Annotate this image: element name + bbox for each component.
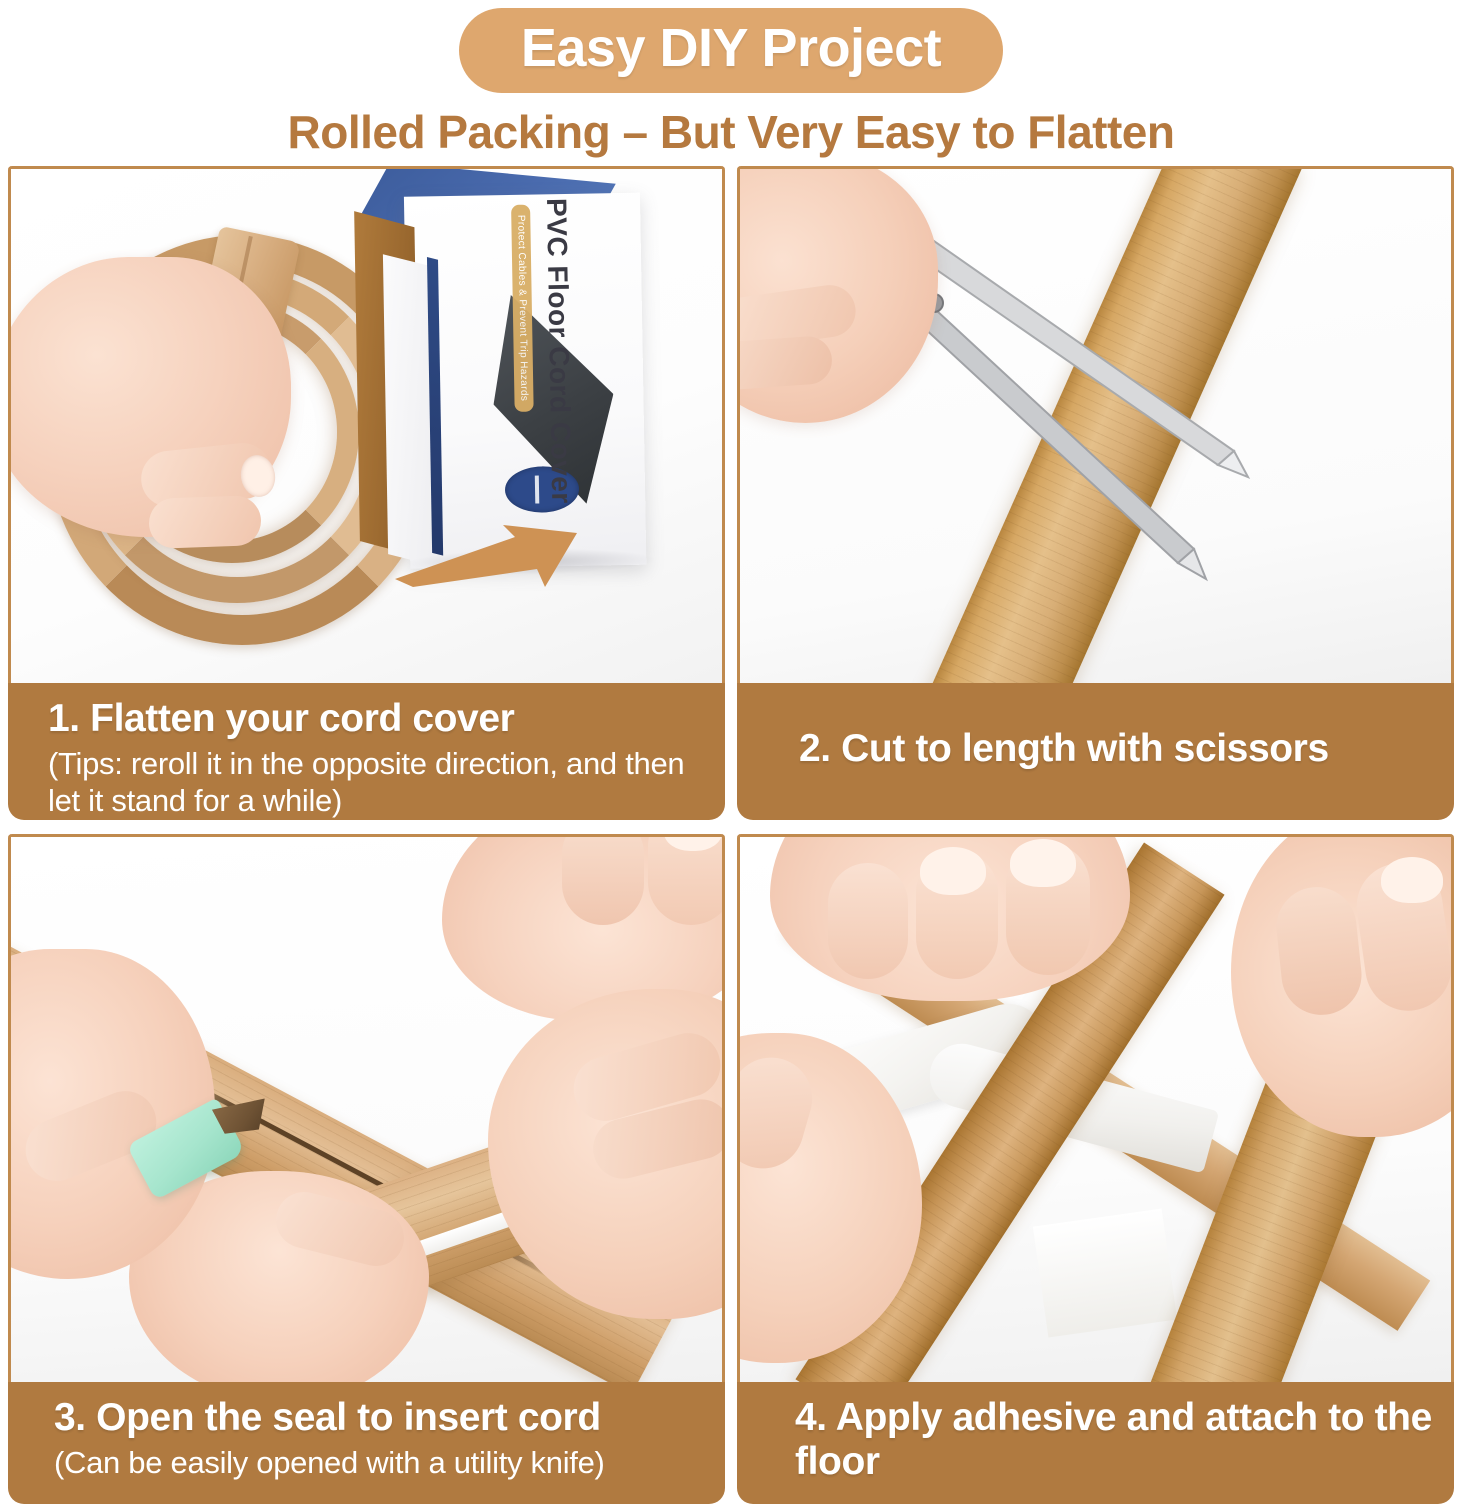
page-title: Easy DIY Project [459, 8, 1003, 93]
steps-grid: Protect Cables & Prevent Trip Hazards PV… [8, 166, 1454, 1504]
step-3-tip: (Can be easily opened with a utility kni… [54, 1444, 703, 1481]
finger [1273, 883, 1366, 1019]
step-1-caption: 1. Flatten your cord cover (Tips: reroll… [8, 683, 725, 820]
step-panel-1: Protect Cables & Prevent Trip Hazards PV… [8, 166, 725, 820]
finger [148, 495, 262, 549]
page-subtitle: Rolled Packing – But Very Easy to Flatte… [0, 107, 1462, 158]
step-panel-3: 3. Open the seal to insert cord (Can be … [8, 834, 725, 1504]
step-4-caption: 4. Apply adhesive and attach to the floo… [737, 1382, 1454, 1504]
finger [737, 335, 834, 391]
fingernail [1010, 839, 1076, 887]
step-3-photo [8, 834, 725, 1382]
step-4-title: 4. Apply adhesive and attach to the floo… [795, 1396, 1432, 1483]
header: Easy DIY Project Rolled Packing – But Ve… [0, 0, 1462, 157]
product-box: Protect Cables & Prevent Trip Hazards PV… [360, 170, 659, 575]
finger [828, 863, 908, 979]
step-1-tip: (Tips: reroll it in the opposite directi… [48, 745, 703, 819]
box-product-name: PVC Floor Cord Cover [540, 198, 577, 504]
finger [562, 834, 644, 925]
adhesive-backing-tail [1033, 1208, 1177, 1337]
step-panel-2: 2. Cut to length with scissors [737, 166, 1454, 820]
step-2-photo [737, 166, 1454, 683]
hand-holding-coil [8, 257, 291, 537]
step-1-title: 1. Flatten your cord cover [48, 697, 703, 741]
step-2-caption: 2. Cut to length with scissors [737, 683, 1454, 820]
step-3-title: 3. Open the seal to insert cord [54, 1396, 703, 1440]
direction-arrow-icon [395, 521, 577, 587]
fingernail [920, 847, 986, 895]
step-1-photo: Protect Cables & Prevent Trip Hazards PV… [8, 166, 725, 683]
step-4-photo [737, 834, 1454, 1382]
step-panel-4: 4. Apply adhesive and attach to the floo… [737, 834, 1454, 1504]
box-tagline: Protect Cables & Prevent Trip Hazards [511, 205, 534, 412]
finger [737, 1048, 822, 1178]
step-2-title: 2. Cut to length with scissors [799, 727, 1432, 771]
step-3-caption: 3. Open the seal to insert cord (Can be … [8, 1382, 725, 1504]
fingernail [1381, 857, 1443, 903]
